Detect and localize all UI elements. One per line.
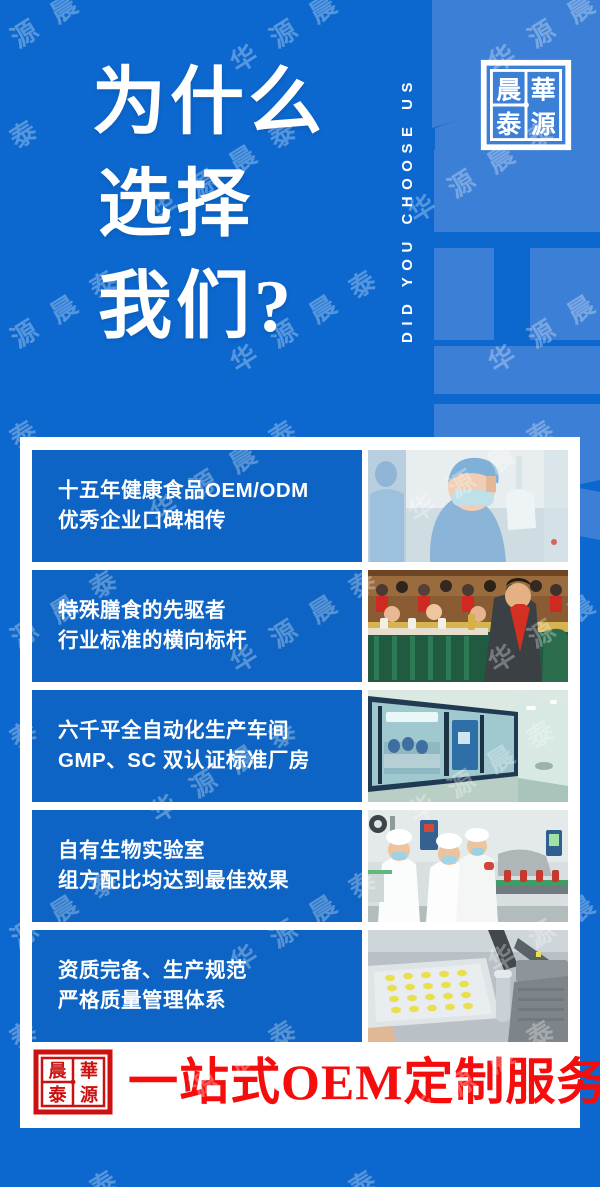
poster-root: 为什么 选择 我们? DID YOU CHOOSE US 晨 華 泰 — [0, 0, 600, 1187]
card-1-line-1: 十五年健康食品OEM/ODM — [58, 476, 362, 506]
title-line-3: 我们? — [92, 256, 326, 358]
svg-text:泰: 泰 — [48, 1084, 68, 1105]
conference-audience-photo — [368, 570, 568, 682]
feature-card-4[interactable]: 自有生物实验室 组方配比均达到最佳效果 — [32, 810, 362, 922]
lab-technician-vial-photo — [368, 450, 568, 562]
poster-header: 为什么 选择 我们? DID YOU CHOOSE US 晨 華 泰 — [0, 0, 600, 437]
card-4-line-2: 组方配比均达到最佳效果 — [58, 866, 362, 896]
card-1-line-2: 优秀企业口碑相传 — [58, 506, 362, 536]
footer-slogan-text: 一站式OEM定制服务 — [128, 1052, 600, 1112]
footer-slogan-bar: 晨 華 泰 源 一站式OEM定制服务 — [32, 1046, 568, 1118]
page-title: 为什么 选择 我们? — [92, 52, 326, 358]
svg-text:泰: 泰 — [496, 111, 522, 139]
svg-text:華: 華 — [531, 76, 556, 104]
feature-row: 自有生物实验室 组方配比均达到最佳效果 — [32, 810, 568, 922]
card-2-line-2: 行业标准的横向标杆 — [58, 626, 362, 656]
feature-card-1[interactable]: 十五年健康食品OEM/ODM 优秀企业口碑相传 — [32, 450, 362, 562]
feature-row: 十五年健康食品OEM/ODM 优秀企业口碑相传 — [32, 450, 568, 562]
card-5-line-1: 资质完备、生产规范 — [58, 956, 362, 986]
feature-row: 六千平全自动化生产车间 GMP、SC 双认证标准厂房 — [32, 690, 568, 802]
card-3-line-2: GMP、SC 双认证标准厂房 — [58, 746, 362, 776]
card-4-line-1: 自有生物实验室 — [58, 836, 362, 866]
cleanroom-corridor-photo — [368, 690, 568, 802]
production-line-workers-photo — [368, 810, 568, 922]
feature-card-5[interactable]: 资质完备、生产规范 严格质量管理体系 — [32, 930, 362, 1042]
feature-card-list: 十五年健康食品OEM/ODM 优秀企业口碑相传 — [32, 450, 568, 1042]
feature-row: 特殊膳食的先驱者 行业标准的横向标杆 — [32, 570, 568, 682]
company-seal-red-icon: 晨 華 泰 源 — [32, 1048, 114, 1116]
card-2-line-1: 特殊膳食的先驱者 — [58, 596, 362, 626]
title-line-1: 为什么 — [92, 52, 326, 154]
svg-text:晨: 晨 — [49, 1061, 68, 1081]
svg-text:華: 華 — [80, 1060, 98, 1081]
feature-row: 资质完备、生产规范 严格质量管理体系 — [32, 930, 568, 1042]
vertical-english-text: DID YOU CHOOSE US — [399, 76, 416, 343]
title-line-2: 选择 — [92, 154, 326, 256]
svg-text:晨: 晨 — [496, 77, 522, 104]
svg-text:源: 源 — [531, 111, 556, 139]
svg-text:源: 源 — [80, 1084, 98, 1105]
feature-card-2[interactable]: 特殊膳食的先驱者 行业标准的横向标杆 — [32, 570, 362, 682]
card-3-line-1: 六千平全自动化生产车间 — [58, 716, 362, 746]
vertical-english-tagline: DID YOU CHOOSE US — [392, 24, 422, 394]
card-5-line-2: 严格质量管理体系 — [58, 986, 362, 1016]
tablet-packaging-machine-photo — [368, 930, 568, 1042]
company-seal-white-icon: 晨 華 泰 源 — [478, 55, 574, 155]
content-panel: 十五年健康食品OEM/ODM 优秀企业口碑相传 — [20, 437, 580, 1128]
feature-card-3[interactable]: 六千平全自动化生产车间 GMP、SC 双认证标准厂房 — [32, 690, 362, 802]
